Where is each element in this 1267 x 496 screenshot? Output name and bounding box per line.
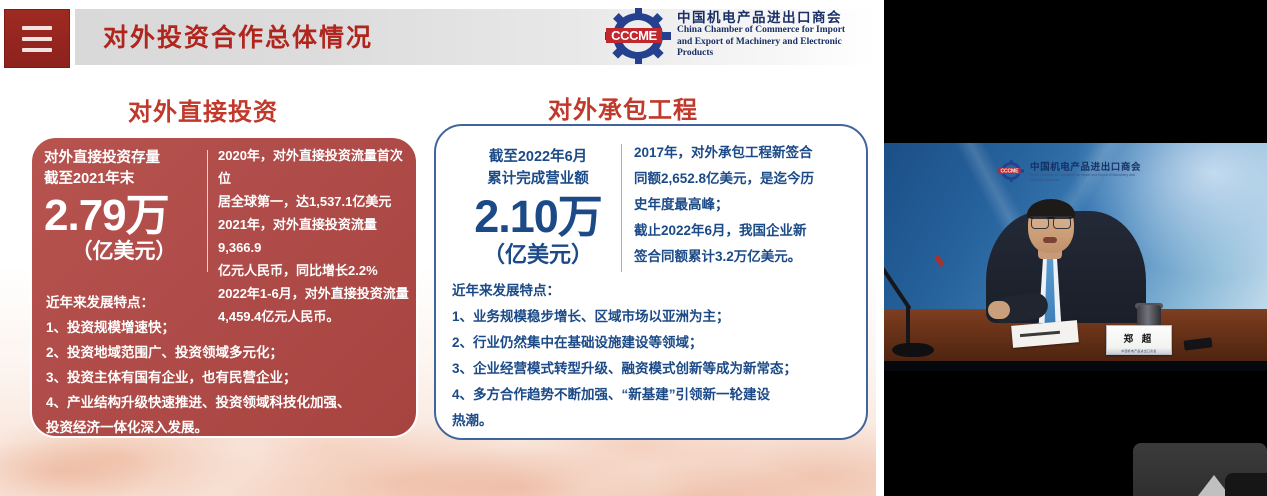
slide-header: 对外投资合作总体情况	[0, 0, 884, 74]
right-column-heading: 对外承包工程	[548, 90, 698, 125]
right-notes-title: 近年来发展特点：	[452, 278, 860, 304]
screen-root: 对外投资合作总体情况	[0, 0, 1267, 496]
left-note-item: 3、投资主体有国有企业，也有民营企业；	[46, 365, 408, 390]
left-stat-unit: （亿美元）	[44, 239, 204, 265]
speaker-hand	[988, 301, 1010, 319]
right-stat-label-1: 截至2022年6月	[454, 146, 622, 168]
left-note-item: 投资经济一体化深入发展。	[46, 415, 408, 438]
left-body-line: 居全球第一，达1,537.1亿美元	[218, 190, 410, 213]
right-body-line: 同额2,652.8亿美元，是迄今历	[634, 166, 856, 192]
svg-text:CCCME: CCCME	[1000, 169, 1019, 175]
video-cccme-logo-mark: CCCME	[996, 160, 1026, 182]
speaker-mouth	[1043, 237, 1057, 243]
presentation-slide: 对外投资合作总体情况	[0, 0, 884, 496]
left-stat-block: 对外直接投资存量 截至2021年末 2.79万 （亿美元）	[44, 148, 204, 265]
right-note-item: 热潮。	[452, 408, 860, 434]
left-body-line: 亿元人民币，同比增长2.2%	[218, 259, 410, 282]
overseas-contracted-projects-card: 截至2022年6月 累计完成营业额 2.10万 （亿美元） 2017年，对外承包…	[434, 124, 868, 440]
menu-bar-3	[22, 48, 52, 52]
left-card-divider	[207, 150, 208, 272]
left-stat-label-1: 对外直接投资存量	[44, 148, 204, 169]
right-card-body: 2017年，对外承包工程新签合 同额2,652.8亿美元，是迄今历 史年度最高峰…	[634, 140, 856, 270]
right-note-item: 4、多方合作趋势不断加强、“新基建”引领新一轮建设	[452, 382, 860, 408]
video-backdrop-logo-en: China Chamber of Commerce for Import and…	[1030, 173, 1140, 182]
left-body-line: 2020年，对外直接投资流量首次位	[218, 144, 410, 190]
left-column-heading: 对外直接投资	[128, 92, 278, 127]
microphone-base	[892, 343, 934, 357]
video-floor	[884, 361, 1267, 371]
glasses-lens-left	[1031, 217, 1049, 229]
right-stat-value: 2.10万	[454, 191, 622, 243]
speaker-video-tile[interactable]: CCCME 中国机电产品进出口商会 China Chamber of Comme…	[884, 143, 1267, 371]
right-stat-block: 截至2022年6月 累计完成营业额 2.10万 （亿美元）	[454, 146, 622, 269]
glasses-lens-right	[1053, 217, 1071, 229]
left-note-item: 4、产业结构升级快速推进、投资领域科技化加强、	[46, 390, 408, 415]
right-note-item: 3、企业经营模式转型升级、融资模式创新等成为新常态；	[452, 356, 860, 382]
right-note-item: 1、业务规模稳步增长、区域市场以亚洲为主；	[452, 304, 860, 330]
right-card-notes: 近年来发展特点： 1、业务规模稳步增长、区域市场以亚洲为主； 2、行业仍然集中在…	[452, 278, 860, 434]
video-backdrop-logo-cn: 中国机电产品进出口商会	[1030, 159, 1141, 173]
menu-bar-2	[22, 37, 52, 41]
page-title: 对外投资合作总体情况	[103, 18, 373, 54]
right-body-line: 截止2022年6月，我国企业新	[634, 218, 856, 244]
cccme-logo-name-en: China Chamber of Commerce for Import and…	[677, 25, 857, 60]
secondary-tile-shadow	[1225, 473, 1267, 496]
left-body-line: 2021年，对外直接投资流量9,366.9	[218, 213, 410, 259]
right-body-line: 2017年，对外承包工程新签合	[634, 140, 856, 166]
left-stat-label-2: 截至2021年末	[44, 169, 204, 190]
left-note-item: 2、投资地域范围广、投资领域多元化；	[46, 340, 408, 365]
svg-text:CCCME: CCCME	[611, 28, 657, 43]
right-body-line: 签合同额累计3.2万亿美元。	[634, 244, 856, 270]
video-conference-panel[interactable]: CCCME 中国机电产品进出口商会 China Chamber of Comme…	[884, 0, 1267, 496]
right-stat-label-2: 累计完成营业额	[454, 168, 622, 190]
outward-direct-investment-card: 对外直接投资存量 截至2021年末 2.79万 （亿美元） 2020年，对外直接…	[30, 136, 418, 438]
cccme-logo: CCCME 中国机电产品进出口商会 China Chamber of Comme…	[605, 8, 875, 68]
right-stat-unit: （亿美元）	[454, 241, 622, 269]
speaker-nameplate: 郑 超 中国机电产品进出口商会	[1106, 325, 1172, 355]
microphone-stem	[906, 305, 910, 347]
glasses-icon	[1030, 216, 1072, 228]
nameplate-organization: 中国机电产品进出口商会	[1121, 349, 1156, 353]
menu-bar-1	[22, 26, 52, 30]
video-backdrop-logo-text: 中国机电产品进出口商会 China Chamber of Commerce fo…	[1030, 159, 1141, 182]
video-letterbox-top	[884, 0, 1267, 143]
right-card-divider	[621, 144, 622, 272]
cccme-logo-text: 中国机电产品进出口商会 China Chamber of Commerce fo…	[677, 8, 857, 60]
cccme-logo-name-cn: 中国机电产品进出口商会	[677, 10, 857, 25]
left-notes-title: 近年来发展特点：	[46, 290, 408, 315]
document-text-line	[1020, 331, 1060, 337]
cccme-logo-mark: CCCME	[605, 8, 671, 64]
slide-right-gutter	[876, 0, 884, 496]
gear-globe-icon: CCCME	[605, 8, 671, 64]
left-card-notes: 近年来发展特点： 1、投资规模增速快； 2、投资地域范围广、投资领域多元化； 3…	[46, 290, 408, 438]
left-stat-value: 2.79万	[44, 191, 204, 241]
right-note-item: 2、行业仍然集中在基础设施建设等领域；	[452, 330, 860, 356]
nameplate-name: 郑 超	[1124, 331, 1155, 345]
secondary-video-tile[interactable]	[1133, 443, 1267, 496]
video-backdrop-logo: CCCME 中国机电产品进出口商会 China Chamber of Comme…	[996, 158, 1156, 184]
gear-globe-icon: CCCME	[996, 160, 1026, 182]
hamburger-menu-icon[interactable]	[4, 9, 70, 68]
right-body-line: 史年度最高峰；	[634, 192, 856, 218]
left-note-item: 1、投资规模增速快；	[46, 315, 408, 340]
